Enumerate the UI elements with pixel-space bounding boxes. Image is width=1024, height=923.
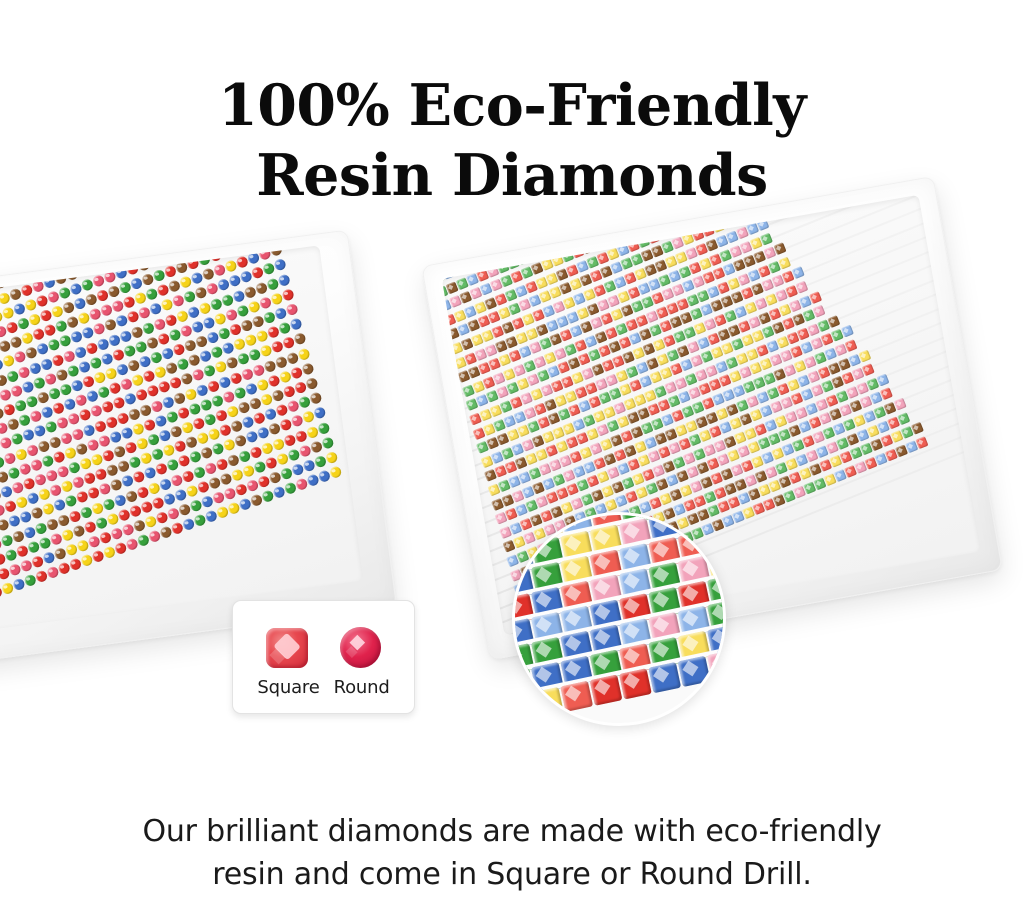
square-gem-icon xyxy=(266,628,308,668)
closeup-square-drill xyxy=(707,650,726,681)
round-drill-tray xyxy=(0,230,397,663)
caption-line-1: Our brilliant diamonds are made with eco… xyxy=(0,811,1024,854)
closeup-square-drill xyxy=(512,693,534,724)
round-drill xyxy=(57,245,71,251)
round-drill xyxy=(8,245,22,252)
round-drill xyxy=(68,245,82,247)
legend-labels-row: Square Round xyxy=(233,677,414,698)
round-drill xyxy=(95,245,109,254)
legend-icons-row xyxy=(233,601,414,668)
round-drill xyxy=(155,245,169,249)
round-drill xyxy=(19,245,33,248)
square-drill-closeup xyxy=(512,512,726,726)
round-drill xyxy=(72,248,86,262)
closeup-square-drill xyxy=(678,656,711,687)
product-infographic: 100% Eco-Friendly Resin Diamonds Square … xyxy=(0,0,1024,923)
round-drill xyxy=(118,245,132,246)
round-drill xyxy=(12,253,26,267)
round-drill xyxy=(144,245,158,253)
closeup-square-drill xyxy=(590,675,623,706)
round-drill xyxy=(23,249,37,263)
tray-rim xyxy=(0,230,397,663)
drill-type-legend: Square Round xyxy=(232,600,415,714)
round-drill xyxy=(61,252,75,266)
legend-label-square: Square xyxy=(257,677,319,698)
closeup-square-drill xyxy=(531,687,564,718)
caption-line-2: resin and come in Square or Round Drill. xyxy=(0,854,1024,897)
headline-line-1: 100% Eco-Friendly xyxy=(0,77,1024,135)
round-drill xyxy=(0,257,14,271)
product-caption: Our brilliant diamonds are made with eco… xyxy=(0,811,1024,896)
legend-label-round: Round xyxy=(334,677,390,698)
closeup-square-drill xyxy=(648,662,681,693)
round-drill xyxy=(0,245,11,256)
round-drill xyxy=(34,245,48,259)
round-drill xyxy=(46,245,60,255)
closeup-square-drill xyxy=(560,681,593,712)
page-title: 100% Eco-Friendly Resin Diamonds xyxy=(0,77,1024,204)
closeup-square-drill xyxy=(619,668,652,699)
round-drill xyxy=(84,245,98,258)
round-drill xyxy=(0,261,3,275)
round-gem-icon xyxy=(340,627,381,668)
round-drill xyxy=(106,245,120,250)
